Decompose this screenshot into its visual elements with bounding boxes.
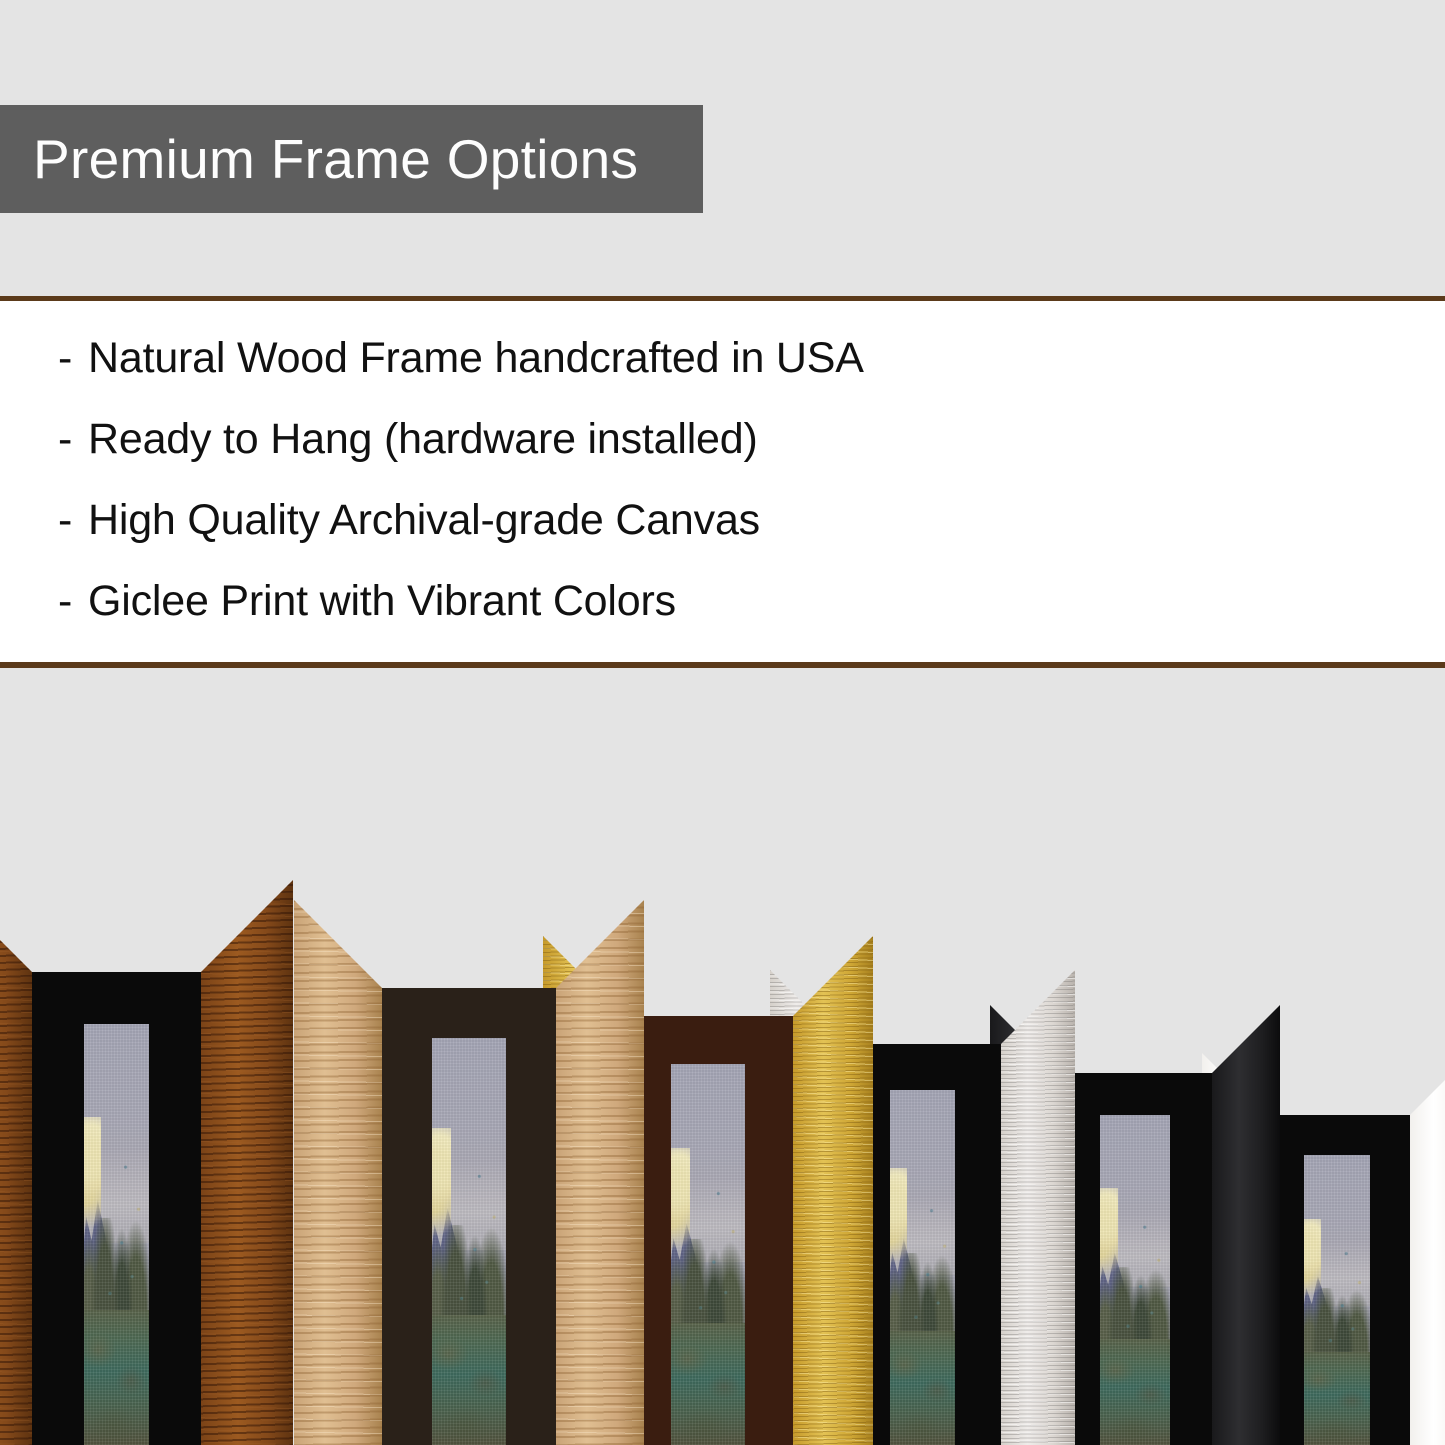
- page-title: Premium Frame Options: [0, 132, 638, 187]
- list-item: - Ready to Hang (hardware installed): [58, 418, 1398, 499]
- canvas-artwork: [1100, 1115, 1170, 1445]
- canvas-artwork: [432, 1038, 506, 1445]
- canvas-weave-texture: [1100, 1115, 1170, 1445]
- frame-option-oak[interactable]: [294, 900, 644, 1445]
- bullet-marker-icon: -: [58, 580, 88, 623]
- bullet-marker-icon: -: [58, 418, 88, 461]
- features-panel: - Natural Wood Frame handcrafted in USA …: [0, 296, 1445, 668]
- feature-label: Natural Wood Frame handcrafted in USA: [88, 337, 864, 380]
- frame-rail-left: [0, 880, 32, 1445]
- frame-showcase: White Black: [0, 668, 1445, 1445]
- list-item: - Natural Wood Frame handcrafted in USA: [58, 337, 1398, 418]
- product-infographic: Premium Frame Options - Natural Wood Fra…: [0, 0, 1445, 1445]
- frame-rail-right: [201, 880, 293, 1445]
- bullet-marker-icon: -: [58, 499, 88, 542]
- canvas-artwork: [890, 1090, 955, 1445]
- canvas-weave-texture: [1304, 1155, 1370, 1445]
- title-banner: Premium Frame Options: [0, 105, 703, 213]
- feature-label: Giclee Print with Vibrant Colors: [88, 580, 676, 623]
- frame-rail-left: [294, 900, 382, 1445]
- canvas-weave-texture: [890, 1090, 955, 1445]
- frame-option-walnut[interactable]: [0, 880, 293, 1445]
- frame-rail-right: [1410, 1053, 1445, 1445]
- frame-rail-right: [1212, 1005, 1280, 1445]
- frame-rail-right: [793, 936, 873, 1445]
- canvas-artwork: [1304, 1155, 1370, 1445]
- frame-rail-right: [1001, 970, 1075, 1445]
- list-item: - Giclee Print with Vibrant Colors: [58, 580, 1398, 661]
- canvas-weave-texture: [671, 1064, 745, 1445]
- feature-label: Ready to Hang (hardware installed): [88, 418, 758, 461]
- feature-label: High Quality Archival-grade Canvas: [88, 499, 760, 542]
- list-item: - High Quality Archival-grade Canvas: [58, 499, 1398, 580]
- canvas-artwork: [84, 1024, 149, 1445]
- frame-rail-right: [556, 900, 644, 1445]
- canvas-artwork: [671, 1064, 745, 1445]
- canvas-weave-texture: [84, 1024, 149, 1445]
- features-list: - Natural Wood Frame handcrafted in USA …: [58, 337, 1398, 661]
- bullet-marker-icon: -: [58, 337, 88, 380]
- canvas-weave-texture: [432, 1038, 506, 1445]
